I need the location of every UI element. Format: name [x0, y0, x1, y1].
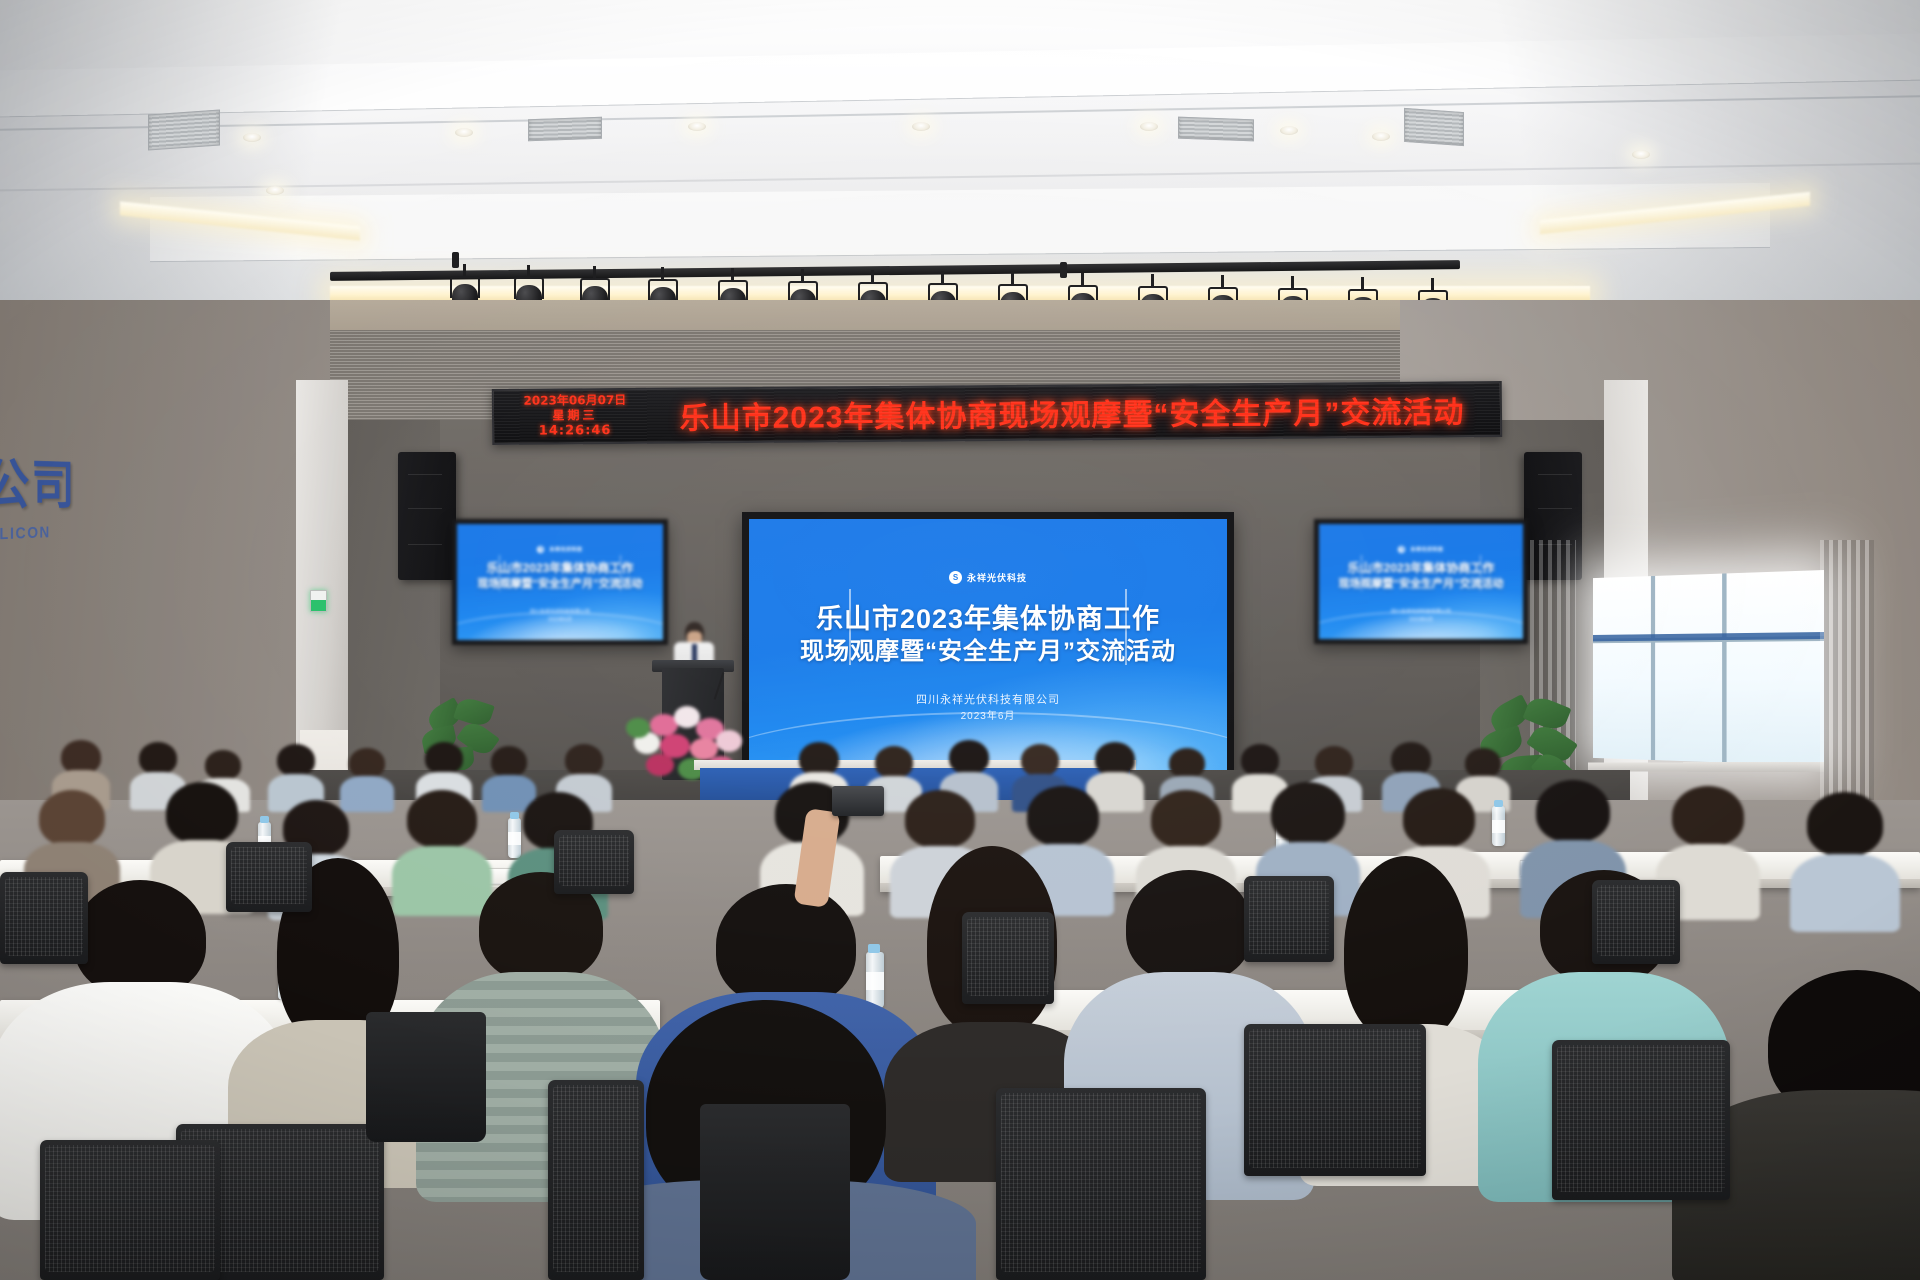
smartphone[interactable] — [832, 786, 884, 816]
backpack[interactable] — [700, 1104, 850, 1280]
wall-sign-chinese: 公司 — [0, 440, 86, 521]
slide-title-line2: 现场观摩暨“安全生产月”交流活动 — [749, 631, 1227, 666]
led-headline: 乐山市2023年集体协商现场观摩暨“安全生产月”交流活动 — [644, 387, 1500, 438]
slide-organization: 四川永祥光伏科技有限公司 — [749, 691, 1227, 707]
led-ticker-banner: 2023年06月07日 星期三 14:26:46 乐山市2023年集体协商现场观… — [492, 381, 1502, 445]
company-logo-icon: S — [1398, 546, 1405, 553]
ac-vent — [148, 109, 220, 150]
emergency-exit-light-icon — [310, 590, 327, 612]
left-display-tv: S 永祥光伏科技 乐山市2023年集体协商工作 现场观摩暨“安全生产月”交流活动… — [452, 519, 668, 645]
downlight — [1280, 126, 1298, 135]
wall-sign-english: SILICON — [0, 522, 86, 545]
chair[interactable] — [226, 842, 312, 912]
downlight — [912, 122, 930, 131]
company-logo-wordmark: 永祥光伏科技 — [1410, 546, 1443, 553]
downlight — [243, 133, 261, 142]
led-date: 2023年06月07日 — [506, 393, 644, 409]
chair[interactable] — [40, 1140, 220, 1280]
slide-organization: 四川永祥光伏科技有限公司 — [457, 608, 663, 615]
truss-drop — [1060, 262, 1067, 278]
slide-date: 2023年6月 — [1319, 616, 1523, 623]
downlight — [1140, 122, 1158, 131]
chair[interactable] — [1244, 876, 1334, 962]
chair[interactable] — [1244, 1024, 1426, 1176]
conference-room-photo: 公司 SILICON 2023年06月07日 星期三 14:26:46 乐山市2… — [0, 0, 1920, 1280]
slide-title-line1: 乐山市2023年集体协商工作 — [1319, 559, 1523, 576]
downlight — [266, 186, 284, 195]
company-logo-wordmark: 永祥光伏科技 — [549, 546, 582, 553]
slide-date: 2023年6月 — [457, 616, 663, 623]
chair[interactable] — [1552, 1040, 1730, 1200]
chair[interactable] — [548, 1080, 644, 1280]
chair[interactable] — [0, 872, 88, 964]
company-logo-wordmark: 永祥光伏科技 — [967, 571, 1027, 584]
ac-vent — [1404, 108, 1464, 146]
ac-vent — [1178, 117, 1254, 142]
chair[interactable] — [962, 912, 1054, 1004]
slide-organization: 四川永祥光伏科技有限公司 — [1319, 608, 1523, 615]
water-bottle — [1492, 806, 1505, 846]
company-logo-icon: S — [537, 546, 544, 553]
led-weekday: 星期三 — [506, 408, 644, 424]
chair[interactable] — [554, 830, 634, 894]
company-logo-icon: S — [949, 571, 962, 584]
led-datetime-block: 2023年06月07日 星期三 14:26:46 — [494, 393, 644, 440]
slide-title-line2: 现场观摩暨“安全生产月”交流活动 — [457, 575, 663, 591]
downlight — [1372, 132, 1390, 141]
led-time: 14:26:46 — [506, 423, 644, 440]
attendee — [1790, 792, 1900, 932]
slide-title-line2: 现场观摩暨“安全生产月”交流活动 — [1319, 575, 1523, 591]
slide-logo: S 永祥光伏科技 — [457, 546, 663, 553]
slide-logo: S 永祥光伏科技 — [749, 571, 1227, 584]
downlight — [455, 128, 473, 137]
slide-logo: S 永祥光伏科技 — [1319, 546, 1523, 553]
wall-company-sign: 公司 SILICON — [0, 440, 86, 548]
window-mullion — [1722, 573, 1726, 762]
right-display-tv: S 永祥光伏科技 乐山市2023年集体协商工作 现场观摩暨“安全生产月”交流活动… — [1314, 519, 1528, 644]
slide-date: 2023年6月 — [749, 707, 1227, 722]
downlight — [1632, 150, 1650, 159]
handbag[interactable] — [366, 1012, 486, 1142]
ac-vent — [528, 117, 602, 142]
curtain-right — [1820, 540, 1874, 802]
truss-drop — [452, 252, 459, 268]
loudspeaker-left — [398, 452, 456, 580]
slide-title-line1: 乐山市2023年集体协商工作 — [457, 559, 663, 576]
chair[interactable] — [1592, 880, 1680, 964]
window-mullion — [1651, 576, 1655, 760]
chair[interactable] — [996, 1088, 1206, 1280]
downlight — [688, 122, 706, 131]
window — [1593, 570, 1824, 766]
